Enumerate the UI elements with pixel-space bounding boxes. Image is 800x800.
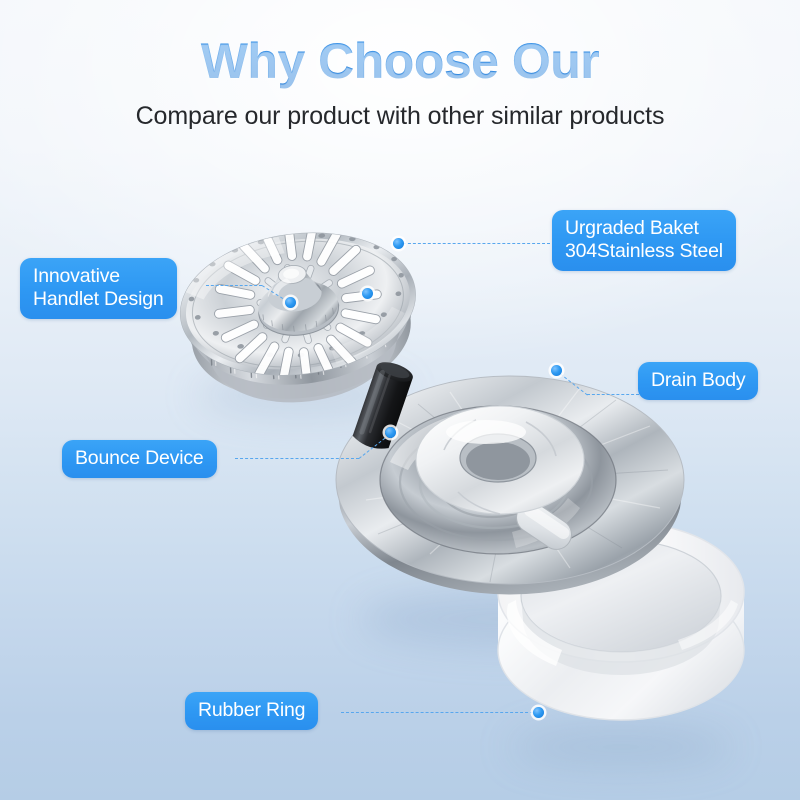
- connector-dot-innovative-handle: [285, 297, 296, 308]
- callout-badge-innovative-handle[interactable]: Innovative Handlet Design: [20, 258, 177, 319]
- callout-badge-drain-body[interactable]: Drain Body: [638, 362, 758, 400]
- infographic-canvas: Why Choose Our Compare our product with …: [0, 0, 800, 800]
- callout-badge-rubber-ring[interactable]: Rubber Ring: [185, 692, 318, 730]
- leader-line-innovative-handle-h: [206, 285, 262, 286]
- leader-line-rubber-ring: [341, 712, 538, 713]
- connector-dot-upgraded-basket: [393, 238, 404, 249]
- leader-line-drain-body-h: [587, 394, 639, 395]
- bounce-device-art: [352, 352, 414, 460]
- connector-dot-rubber-ring: [533, 707, 544, 718]
- connector-dot-basket-secondary: [362, 288, 373, 299]
- leader-line-bounce-device-h: [235, 458, 359, 459]
- header: Why Choose Our Compare our product with …: [0, 0, 800, 131]
- callout-badge-upgraded-basket[interactable]: Urgraded Baket 304Stainless Steel: [552, 210, 736, 271]
- connector-dot-bounce-device: [385, 427, 396, 438]
- page-subtitle: Compare our product with other similar p…: [0, 90, 800, 131]
- page-title: Why Choose Our: [0, 0, 800, 90]
- callout-badge-bounce-device[interactable]: Bounce Device: [62, 440, 217, 478]
- leader-line-upgraded-basket: [398, 243, 550, 244]
- connector-dot-drain-body: [551, 365, 562, 376]
